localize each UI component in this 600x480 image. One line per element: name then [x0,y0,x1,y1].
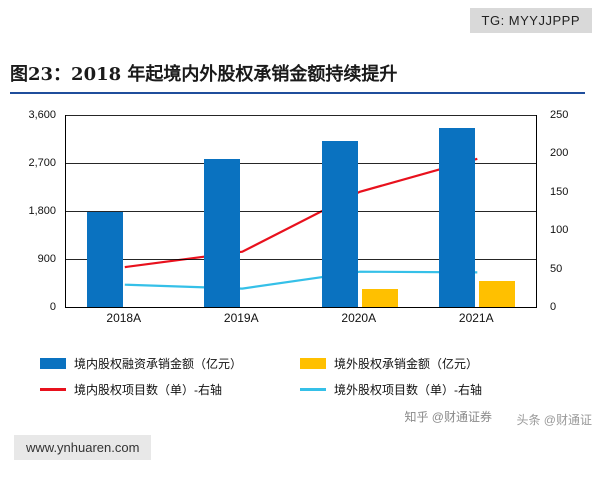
zhihu-watermark: 知乎 @财通证券 [404,408,492,425]
legend-item[interactable]: 境内股权项目数（单）-右轴 [40,381,300,398]
legend-label: 境外股权承销金额（亿元） [334,355,478,372]
line-series [125,272,478,289]
title-divider [10,92,585,94]
bottom-band [0,472,600,480]
chart-legend: 境内股权融资承销金额（亿元）境外股权承销金额（亿元）境内股权项目数（单）-右轴境… [40,350,560,402]
x-tick-label: 2018A [69,311,179,325]
toutiao-watermark: 头条 @财通证 [516,411,592,428]
gridline [66,115,536,116]
legend-swatch-icon [40,388,66,391]
y-tick-right: 100 [550,224,590,236]
legend-swatch-icon [300,358,326,369]
bar [322,141,358,307]
chart-page: TG: MYYJJPPP 图23：2018 年起境内外股权承销金额持续提升 09… [0,0,600,480]
legend-swatch-icon [300,388,326,391]
y-tick-right: 0 [550,301,590,313]
x-tick-label: 2019A [186,311,296,325]
url-watermark: www.ynhuaren.com [14,435,151,460]
bar [87,212,123,307]
y-tick-right: 250 [550,109,590,121]
title-block: 图23：2018 年起境内外股权承销金额持续提升 [10,60,590,94]
legend-label: 境内股权融资承销金额（亿元） [74,355,242,372]
y-tick-left: 1,800 [10,205,56,217]
y-tick-right: 200 [550,147,590,159]
bar [439,128,475,307]
y-tick-right: 150 [550,186,590,198]
x-tick-label: 2020A [304,311,414,325]
legend-label: 境内股权项目数（单）-右轴 [74,381,222,398]
page-title: 图23：2018 年起境内外股权承销金额持续提升 [10,60,590,92]
legend-swatch-icon [40,358,66,369]
chart-area: 09001,8002,7003,600 050100150200250 2018… [10,105,590,335]
legend-item[interactable]: 境内股权融资承销金额（亿元） [40,355,300,372]
bar [479,281,515,307]
y-tick-left: 900 [10,253,56,265]
x-tick-label: 2021A [421,311,531,325]
legend-row: 境内股权项目数（单）-右轴境外股权项目数（单）-右轴 [40,376,560,402]
plot-area [65,115,537,308]
y-tick-right: 50 [550,263,590,275]
bar [362,289,398,307]
bar [204,159,240,307]
y-tick-left: 3,600 [10,109,56,121]
y-tick-left: 2,700 [10,157,56,169]
telegram-watermark: TG: MYYJJPPP [470,8,592,33]
legend-item[interactable]: 境外股权项目数（单）-右轴 [300,381,560,398]
legend-row: 境内股权融资承销金额（亿元）境外股权承销金额（亿元） [40,350,560,376]
legend-item[interactable]: 境外股权承销金额（亿元） [300,355,560,372]
line-series [125,159,478,267]
legend-label: 境外股权项目数（单）-右轴 [334,381,482,398]
y-tick-left: 0 [10,301,56,313]
